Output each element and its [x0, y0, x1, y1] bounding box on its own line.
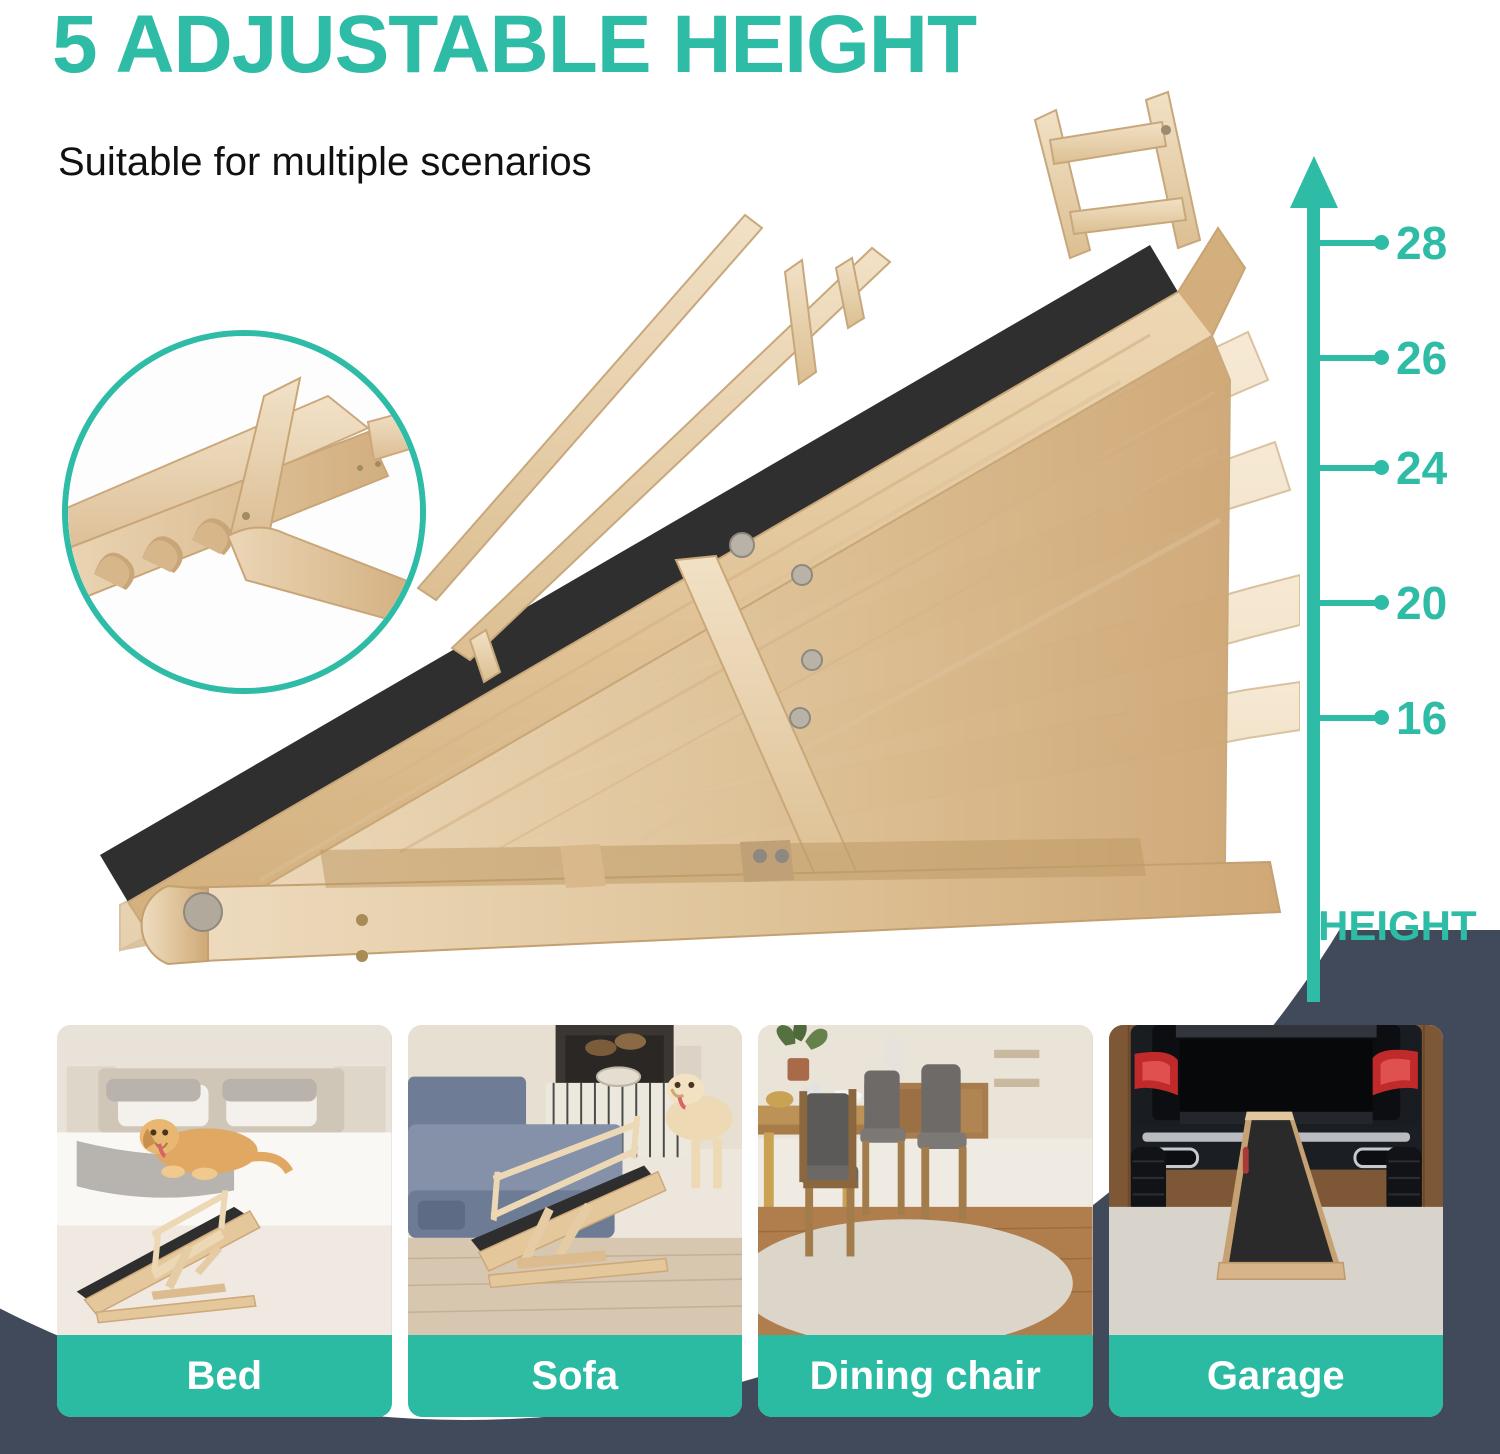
scale-label-26: 26 — [1396, 331, 1447, 385]
scale-label-16: 16 — [1396, 691, 1447, 745]
scenario-photo-sofa — [408, 1025, 743, 1335]
scenario-card-bed[interactable]: Bed — [57, 1025, 392, 1417]
scenario-card-sofa[interactable]: Sofa — [408, 1025, 743, 1417]
scenario-label-sofa: Sofa — [408, 1335, 743, 1417]
infographic-canvas: 5 ADJUSTABLE HEIGHT Suitable for multipl… — [0, 0, 1500, 1454]
scenario-card-garage[interactable]: Garage — [1109, 1025, 1444, 1417]
scenario-label-dining-chair: Dining chair — [758, 1335, 1093, 1417]
handrail-upper-right — [1035, 92, 1200, 258]
scale-label-24: 24 — [1396, 441, 1447, 495]
scenario-photo-dining — [758, 1025, 1093, 1335]
scale-label-20: 20 — [1396, 576, 1447, 630]
scale-label-28: 28 — [1396, 216, 1447, 270]
height-axis-label: HEIGHT — [1318, 902, 1477, 950]
height-scale: 28 26 24 20 16 — [1288, 150, 1500, 960]
scenario-card-list: Bed — [0, 1025, 1500, 1445]
scenario-photo-bed — [57, 1025, 392, 1335]
scenario-card-dining-chair[interactable]: Dining chair — [758, 1025, 1093, 1417]
page-subtitle: Suitable for multiple scenarios — [58, 140, 592, 185]
axis-arrow-icon — [1290, 156, 1338, 208]
page-title: 5 ADJUSTABLE HEIGHT — [52, 2, 976, 88]
scenario-label-garage: Garage — [1109, 1335, 1444, 1417]
scenario-label-bed: Bed — [57, 1335, 392, 1417]
scenario-photo-garage — [1109, 1025, 1444, 1335]
notched-rail-detail-callout — [62, 330, 426, 694]
